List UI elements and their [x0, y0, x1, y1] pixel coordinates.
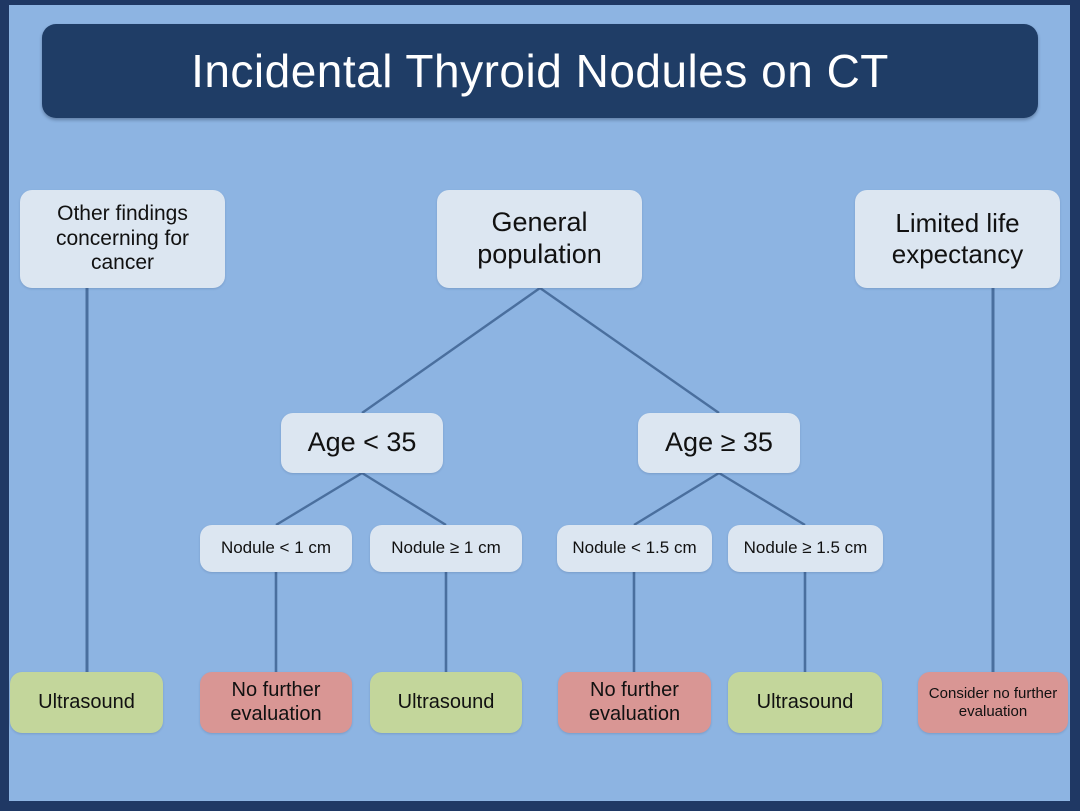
outcome-ultrasound-2[interactable]: Ultrasound	[370, 672, 522, 733]
node-age-over-35[interactable]: Age ≥ 35	[638, 413, 800, 473]
outcome-no-further-evaluation-2[interactable]: No further evaluation	[558, 672, 711, 733]
page-title: Incidental Thyroid Nodules on CT	[42, 24, 1038, 118]
outcome-ultrasound-1[interactable]: Ultrasound	[10, 672, 163, 733]
outcome-consider-no-further-evaluation[interactable]: Consider no further evaluation	[918, 672, 1068, 733]
node-nodule-ge-15cm[interactable]: Nodule ≥ 1.5 cm	[728, 525, 883, 572]
node-nodule-lt-1cm[interactable]: Nodule < 1 cm	[200, 525, 352, 572]
outcome-no-further-evaluation-1[interactable]: No further evaluation	[200, 672, 352, 733]
node-age-under-35[interactable]: Age < 35	[281, 413, 443, 473]
node-other-findings[interactable]: Other findings concerning for cancer	[20, 190, 225, 288]
outcome-ultrasound-3[interactable]: Ultrasound	[728, 672, 882, 733]
node-limited-life-expectancy[interactable]: Limited life expectancy	[855, 190, 1060, 288]
node-nodule-lt-15cm[interactable]: Nodule < 1.5 cm	[557, 525, 712, 572]
flowchart-inner: Incidental Thyroid Nodules on CT Other f…	[0, 0, 1080, 811]
node-general-population[interactable]: General population	[437, 190, 642, 288]
flowchart-canvas: Incidental Thyroid Nodules on CT Other f…	[0, 0, 1080, 811]
node-nodule-ge-1cm[interactable]: Nodule ≥ 1 cm	[370, 525, 522, 572]
